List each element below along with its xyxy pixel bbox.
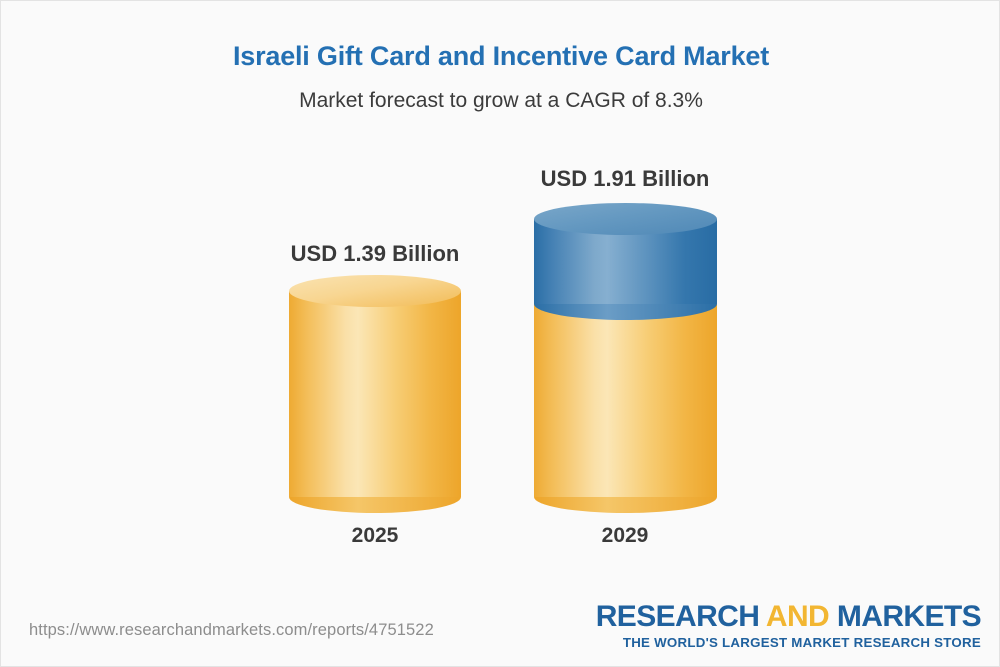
source-url[interactable]: https://www.researchandmarkets.com/repor…: [29, 621, 434, 640]
brand-word-markets: MARKETS: [837, 600, 981, 633]
chart-canvas: Israeli Gift Card and Incentive Card Mar…: [0, 0, 1000, 667]
brand-word-and: AND: [766, 600, 829, 633]
bar-category-label-2029: 2029: [449, 524, 801, 548]
bar-value-label-2025: USD 1.39 Billion: [199, 241, 551, 267]
plot-area: USD 1.39 Billion 2025 USD 1.91 Billion: [1, 1, 1000, 601]
brand-logo[interactable]: RESEARCH AND MARKETS THE WORLD'S LARGEST…: [596, 601, 981, 650]
brand-wordmark: RESEARCH AND MARKETS: [596, 601, 981, 633]
brand-tagline: THE WORLD'S LARGEST MARKET RESEARCH STOR…: [596, 635, 981, 650]
bar-group-2025[interactable]: USD 1.39 Billion 2025: [289, 191, 461, 551]
cylinder-top-2025: [289, 275, 461, 307]
cylinder-segment-base-2029: [534, 304, 717, 497]
bar-group-2029[interactable]: USD 1.91 Billion 2029: [534, 191, 717, 551]
cylinder-body-2025: [289, 291, 461, 497]
cylinder-top-2029: [534, 203, 717, 235]
brand-word-research: RESEARCH: [596, 600, 760, 633]
bar-value-label-2029: USD 1.91 Billion: [449, 166, 801, 192]
